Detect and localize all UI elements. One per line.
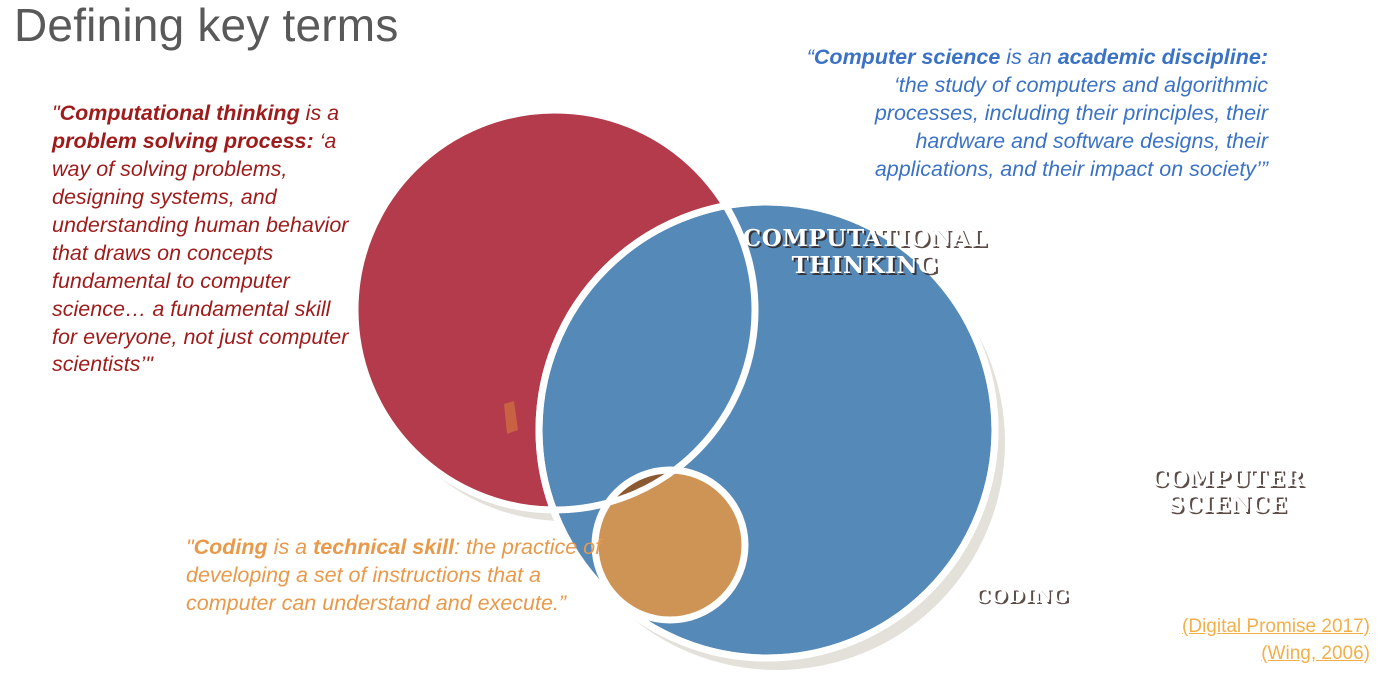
citation-link-wing[interactable]: (Wing, 2006) (1070, 641, 1370, 668)
quote-ct-category: problem solving process: (52, 129, 314, 153)
citation-link-digital-promise[interactable]: (Digital Promise 2017) (1070, 614, 1370, 641)
quote-coding: "Coding is a technical skill: the practi… (186, 534, 616, 618)
citations-list: (Digital Promise 2017) (Wing, 2006) (1070, 614, 1370, 667)
quote-ct-body: ‘a way of solving problems, designing sy… (52, 129, 348, 377)
quote-coding-open-mark: " (186, 535, 194, 559)
quote-cs-open-mark: “ (807, 45, 814, 69)
quote-ct-connector: is a (300, 101, 339, 125)
quote-coding-connector: is a (268, 535, 313, 559)
quote-cs-body: ‘the study of computers and algorithmic … (875, 73, 1268, 181)
quote-ct-open-mark: " (52, 101, 60, 125)
quote-cs-connector: is an (1000, 45, 1057, 69)
quote-computer-science: “Computer science is an academic discipl… (790, 44, 1268, 184)
quote-cs-category: academic discipline: (1058, 45, 1268, 69)
venn-label-computer-science: COMPUTER SCIENCE (1120, 467, 1335, 519)
quote-coding-category: technical skill (313, 535, 454, 559)
quote-computational-thinking: "Computational thinking is a problem sol… (52, 100, 352, 379)
quote-cs-term: Computer science (814, 45, 1000, 69)
quote-ct-term: Computational thinking (60, 101, 300, 125)
quote-coding-term: Coding (194, 535, 268, 559)
page-title: Defining key terms (14, 0, 399, 52)
